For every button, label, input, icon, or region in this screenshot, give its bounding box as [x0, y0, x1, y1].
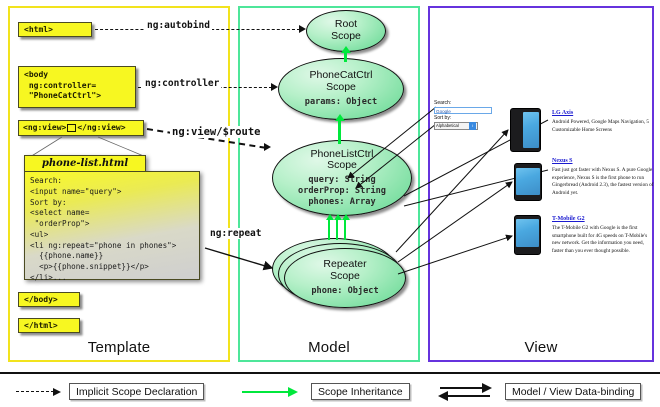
scope-phonecatctrl-props: params: Object — [305, 97, 377, 108]
phone-2-screen — [516, 168, 540, 195]
inheritance-arrowhead-catctrl — [335, 114, 345, 121]
legend: Implicit Scope Declaration Scope Inherit… — [0, 372, 660, 407]
panel-view-label: View — [430, 339, 652, 356]
diagram-canvas: Template Model View <html> <body ng:cont… — [0, 0, 660, 405]
inheritance-arrowhead-rep-3 — [342, 214, 350, 220]
file-note-phone-list: phone-list.html Search: <input name="que… — [24, 155, 200, 280]
ngview-open-tag: <ng:view> — [23, 123, 66, 132]
double-arrow-line-top — [440, 387, 484, 389]
scope-phonelistctrl-name: PhoneListCtrlScope — [310, 149, 373, 173]
phone-thumbnail-3 — [514, 215, 541, 255]
listing-3-title[interactable]: T-Mobile G2 — [552, 216, 656, 222]
scope-phonelistctrl: PhoneListCtrlScope query: String orderPr… — [272, 140, 412, 216]
implicit-arrowhead-autobind — [299, 25, 306, 33]
listing-1-snippet: Android Powered, Google Maps Navigation,… — [552, 119, 656, 134]
legend-label-inheritance: Scope Inheritance — [311, 383, 410, 400]
sort-select-caret-icon: ↕ — [469, 122, 476, 130]
phone-1-screen — [523, 112, 539, 148]
file-note-code: Search: <input name="query"> Sort by: <s… — [24, 171, 200, 280]
panel-model-label: Model — [240, 339, 418, 356]
ngview-placeholder-icon — [67, 124, 76, 132]
legend-item-databinding: Model / View Data-binding — [440, 383, 641, 400]
code-box-html-open: <html> — [18, 22, 92, 37]
inheritance-arrowhead-rep-1 — [326, 214, 334, 220]
listing-3-snippet: The T-Mobile G2 with Google is the first… — [552, 225, 656, 255]
listing-2-title[interactable]: Nexus S — [552, 158, 656, 164]
legend-item-inheritance: Scope Inheritance — [242, 383, 410, 400]
scope-repeater-props: phone: Object — [311, 286, 378, 297]
legend-label-implicit: Implicit Scope Declaration — [69, 383, 204, 400]
file-note-filename: phone-list.html — [24, 155, 146, 172]
code-box-body-open: <body ng:controller= "PhoneCatCtrl"> — [18, 66, 136, 108]
implicit-arrowhead-route — [264, 143, 271, 151]
view-search-form: Search: Google Sort by: Alphabetical ↕ — [434, 100, 496, 130]
code-box-ngview: <ng:view></ng:view> — [18, 120, 144, 136]
double-arrow-icon — [440, 384, 498, 400]
legend-item-implicit: Implicit Scope Declaration — [16, 383, 204, 400]
phone-3-screen — [516, 219, 539, 247]
edge-label-controller: ng:controller — [143, 78, 221, 89]
search-input[interactable]: Google — [434, 107, 492, 114]
inheritance-arrow-rep-3 — [344, 218, 346, 240]
edge-label-autobind: ng:autobind — [145, 20, 212, 31]
ngview-close-tag: </ng:view> — [77, 123, 125, 132]
inheritance-arrow-rep-2 — [336, 218, 338, 240]
inheritance-arrow-catctrl — [338, 118, 341, 144]
code-box-html-close: </html> — [18, 318, 80, 333]
listing-2-snippet: Fast just got faster with Nexus S. A pur… — [552, 167, 656, 197]
inheritance-arrowhead-root — [341, 46, 351, 53]
phone-thumbnail-2 — [514, 163, 542, 201]
code-box-body-close: </body> — [18, 292, 80, 307]
double-arrow-head-left — [438, 391, 448, 401]
scope-phonelistctrl-props: query: String orderProp: String phones: … — [298, 175, 386, 207]
implicit-arrowhead-controller — [271, 83, 278, 91]
double-arrow-head-right — [482, 383, 492, 393]
sort-select-value: Alphabetical — [436, 123, 459, 128]
sort-select[interactable]: Alphabetical ↕ — [434, 122, 478, 130]
listing-item-3: T-Mobile G2 The T-Mobile G2 with Google … — [552, 216, 656, 255]
dashed-arrow-icon — [16, 387, 62, 396]
scope-root-name: RootScope — [331, 19, 361, 43]
phone-thumbnail-1 — [510, 108, 541, 152]
sort-label: Sort by: — [434, 115, 496, 122]
scope-phonecatctrl: PhoneCatCtrlScope params: Object — [278, 58, 404, 120]
legend-label-databinding: Model / View Data-binding — [505, 383, 641, 400]
scope-repeater: RepeaterScope phone: Object — [284, 248, 406, 308]
scope-repeater-name: RepeaterScope — [323, 259, 366, 283]
edge-label-repeat: ng:repeat — [208, 228, 263, 239]
listing-1-title[interactable]: LG Axis — [552, 110, 656, 116]
green-arrow-icon — [242, 387, 304, 396]
listing-item-2: Nexus S Fast just got faster with Nexus … — [552, 158, 656, 197]
inheritance-arrow-rep-1 — [328, 218, 330, 240]
scope-phonecatctrl-name: PhoneCatCtrlScope — [309, 70, 372, 94]
panel-template-label: Template — [10, 339, 228, 356]
double-arrow-line-bottom — [446, 395, 490, 397]
listing-item-1: LG Axis Android Powered, Google Maps Nav… — [552, 110, 656, 134]
edge-label-route: ng:view/$route — [170, 126, 263, 138]
inheritance-arrowhead-rep-2 — [334, 214, 342, 220]
